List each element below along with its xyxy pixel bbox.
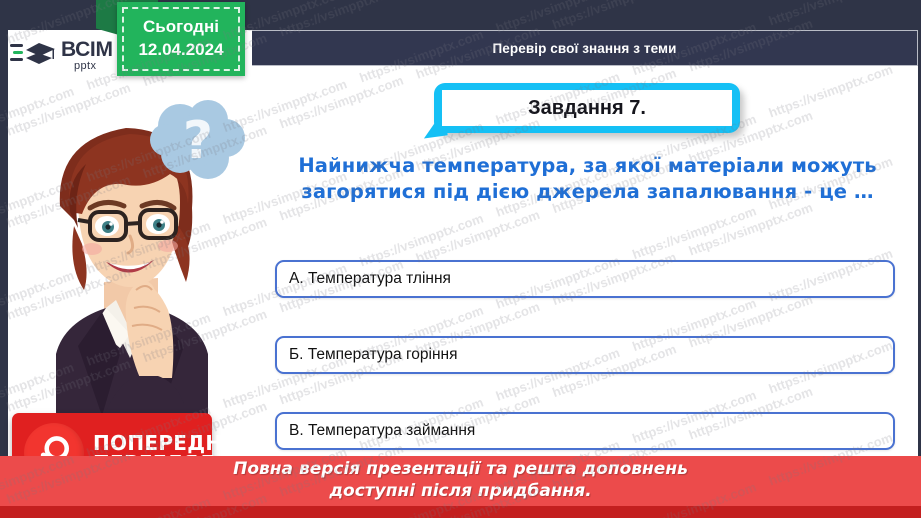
- task-bubble: Завдання 7.: [434, 83, 740, 133]
- answer-options-list: А. Температура тління Б. Температура гор…: [275, 260, 895, 488]
- main-content: Завдання 7. Найнижча температура, за яко…: [252, 66, 918, 496]
- brand-logo[interactable]: ВСІМ pptx: [10, 34, 130, 76]
- question-text: Найнижча температура, за якої матеріали …: [265, 153, 910, 205]
- question-line-1: Найнижча температура, за якої матеріали …: [265, 153, 910, 179]
- answer-option-v[interactable]: В. Температура займання: [275, 412, 895, 450]
- brand-suffix: pptx: [74, 61, 113, 72]
- bottom-strip: [0, 506, 921, 518]
- brand-name: ВСІМ: [61, 39, 113, 60]
- answer-option-a[interactable]: А. Температура тління: [275, 260, 895, 298]
- question-line-2: загорятися під дією джерела запалювання …: [265, 179, 910, 205]
- banner-line-1: Повна версія презентації та решта доповн…: [233, 459, 688, 481]
- answer-option-a-label: А. Температура тління: [289, 270, 451, 288]
- preview-button-line-1: ПОПЕРЕДНІЙ: [93, 433, 247, 453]
- answer-option-v-label: В. Температура займання: [289, 422, 475, 440]
- banner-line-2: доступні після придбання.: [329, 481, 591, 503]
- svg-text:?: ?: [183, 111, 213, 171]
- header-bar: Перевір свої знання з теми: [252, 30, 918, 66]
- slide-canvas: Перевір свої знання з теми Завдання 7. Н…: [0, 0, 921, 518]
- task-number-label: Завдання 7.: [528, 97, 646, 120]
- date-badge: Сьогодні 12.04.2024: [117, 2, 245, 76]
- graduation-cap-icon: [10, 38, 56, 72]
- question-mark-thought-bubble: ?: [146, 96, 250, 184]
- date-badge-label: Сьогодні: [143, 16, 219, 39]
- answer-option-b-label: Б. Температура горіння: [289, 346, 457, 364]
- date-badge-value: 12.04.2024: [138, 39, 223, 62]
- answer-option-b[interactable]: Б. Температура горіння: [275, 336, 895, 374]
- page-title: Перевір свої знання з теми: [492, 41, 676, 56]
- purchase-notice-banner: Повна версія презентації та решта доповн…: [0, 456, 921, 506]
